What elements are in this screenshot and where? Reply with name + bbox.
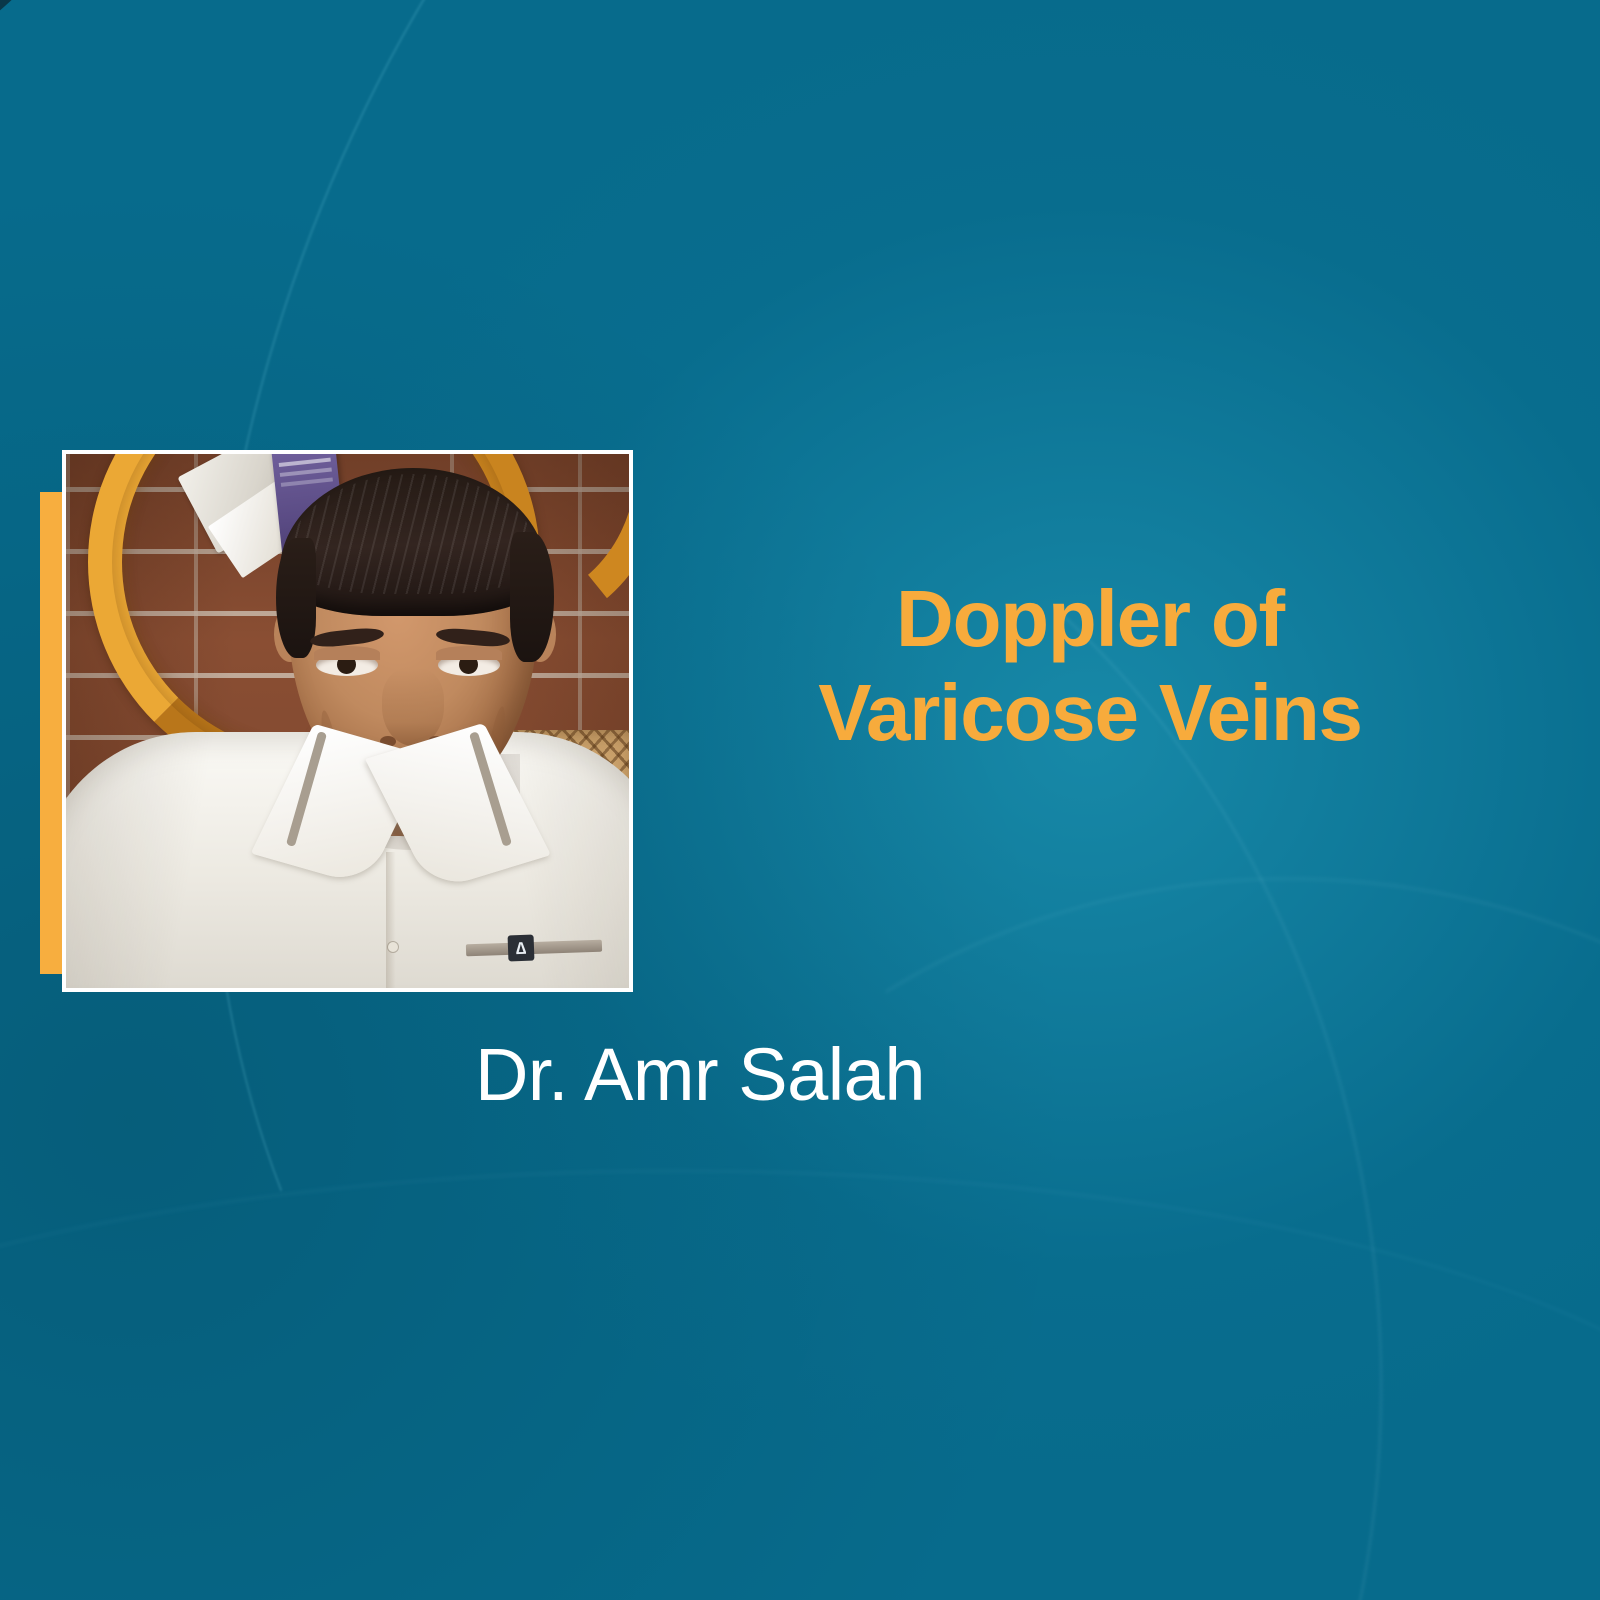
presentation-slide: ∆ Doppler of Varicose Veins Dr. Amr Sala… xyxy=(0,0,1600,1600)
slide-title-line-2: Varicose Veins xyxy=(780,666,1400,760)
orange-accent-bar xyxy=(40,492,64,974)
presenter-photo-frame: ∆ xyxy=(62,450,633,992)
photo-shirt-placket xyxy=(386,852,402,988)
photo-eyelid-right xyxy=(436,646,502,660)
slide-title-line-1: Doppler of xyxy=(780,572,1400,666)
photo-shirt-button xyxy=(388,942,398,952)
presenter-name: Dr. Amr Salah xyxy=(200,1034,1200,1115)
top-left-corner-navy-shape xyxy=(0,0,242,138)
presenter-photo: ∆ xyxy=(66,454,629,988)
photo-person: ∆ xyxy=(66,454,629,988)
photo-eyelid-left xyxy=(314,646,380,660)
photo-hair-side-right xyxy=(510,532,554,662)
slide-title: Doppler of Varicose Veins xyxy=(780,572,1400,759)
photo-shirt-logo: ∆ xyxy=(508,935,535,962)
top-left-corner-navy-sliver xyxy=(0,0,182,115)
photo-nose xyxy=(382,668,444,746)
